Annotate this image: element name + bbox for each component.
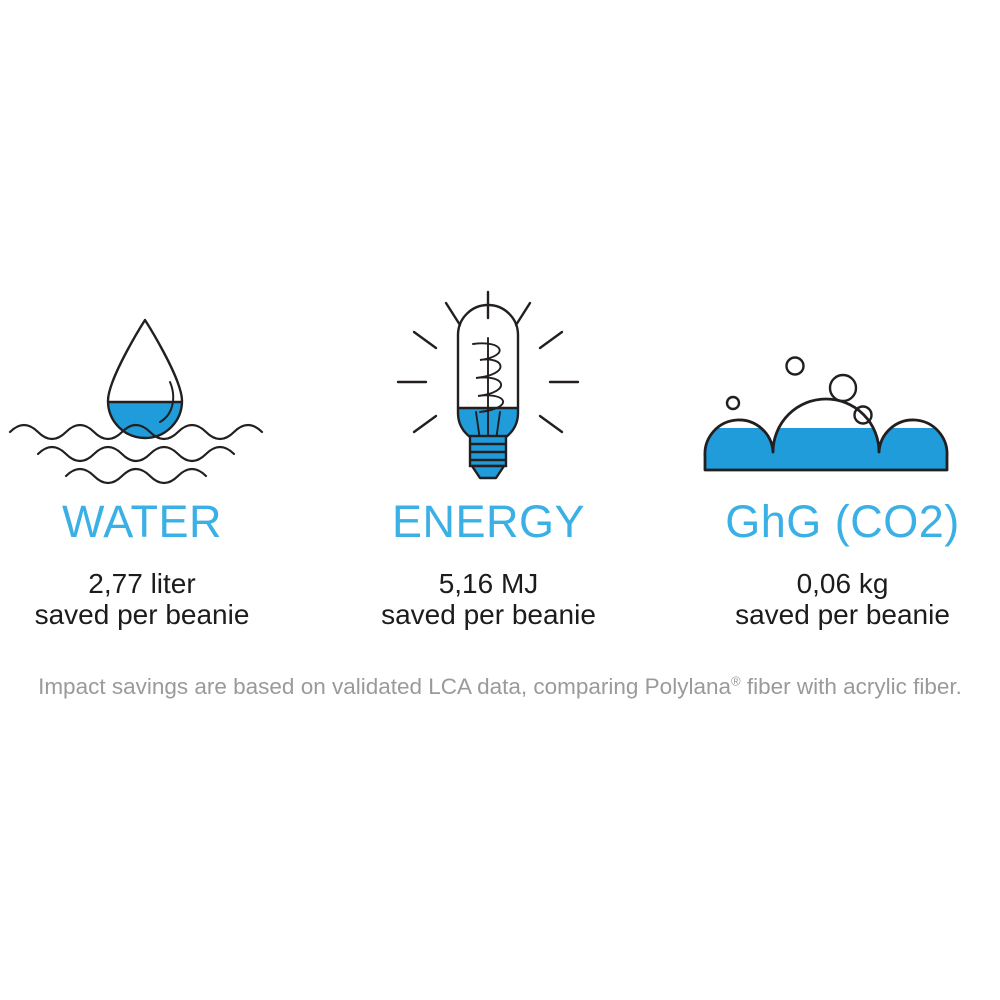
ghg-bubble-large-right (830, 375, 856, 401)
bulb-ray-upper-right (516, 303, 530, 325)
metric-column-energy: ENERGY 5,16 MJ saved per beanie (290, 280, 685, 660)
footnote-text-before: Impact savings are based on validated LC… (38, 674, 731, 699)
water-wave-2 (38, 447, 234, 461)
ghg-cloud-fill (695, 428, 960, 483)
metric-column-water: WATER 2,77 liter saved per beanie (0, 280, 290, 660)
metric-subtitle-energy: saved per beanie (292, 599, 685, 630)
footnote-text-after: fiber with acrylic fiber. (741, 674, 962, 699)
metrics-row: WATER 2,77 liter saved per beanie (0, 280, 1000, 660)
bulb-filament-coil (473, 338, 503, 440)
metric-column-ghg: GhG (CO2) 0,06 kg saved per beanie (685, 280, 1000, 660)
metric-title-energy: ENERGY (292, 499, 685, 544)
light-bulb-rays-icon (290, 280, 685, 485)
ghg-bubble-top (787, 358, 804, 375)
footnote: Impact savings are based on validated LC… (0, 673, 1000, 700)
metric-value-ghg: 0,06 kg (685, 568, 1000, 599)
bulb-base-tip (472, 466, 504, 478)
bulb-ray-upper-left (446, 303, 460, 325)
ghg-bubble-small-left (727, 397, 739, 409)
metric-subtitle-water: saved per beanie (0, 599, 290, 630)
water-wave-3 (66, 469, 206, 483)
energy-icon-slot (290, 280, 685, 485)
impact-savings-infographic: WATER 2,77 liter saved per beanie (0, 0, 1000, 1000)
metric-title-water: WATER (0, 499, 290, 544)
cloud-bubbles-icon (685, 280, 1000, 485)
bulb-ray-lower-right (540, 416, 562, 432)
bulb-ray-mid-right (540, 332, 562, 348)
metric-value-water: 2,77 liter (0, 568, 290, 599)
ghg-bubbles (727, 358, 872, 424)
metric-subtitle-ghg: saved per beanie (685, 599, 1000, 630)
bulb-ray-mid-left (414, 332, 436, 348)
metric-title-ghg: GhG (CO2) (685, 499, 1000, 544)
water-drop-waves-icon (0, 280, 290, 485)
bulb-ray-lower-left (414, 416, 436, 432)
water-icon-slot (0, 280, 290, 485)
metric-value-energy: 5,16 MJ (292, 568, 685, 599)
ghg-icon-slot (685, 280, 1000, 485)
registered-trademark-mark: ® (731, 674, 741, 689)
